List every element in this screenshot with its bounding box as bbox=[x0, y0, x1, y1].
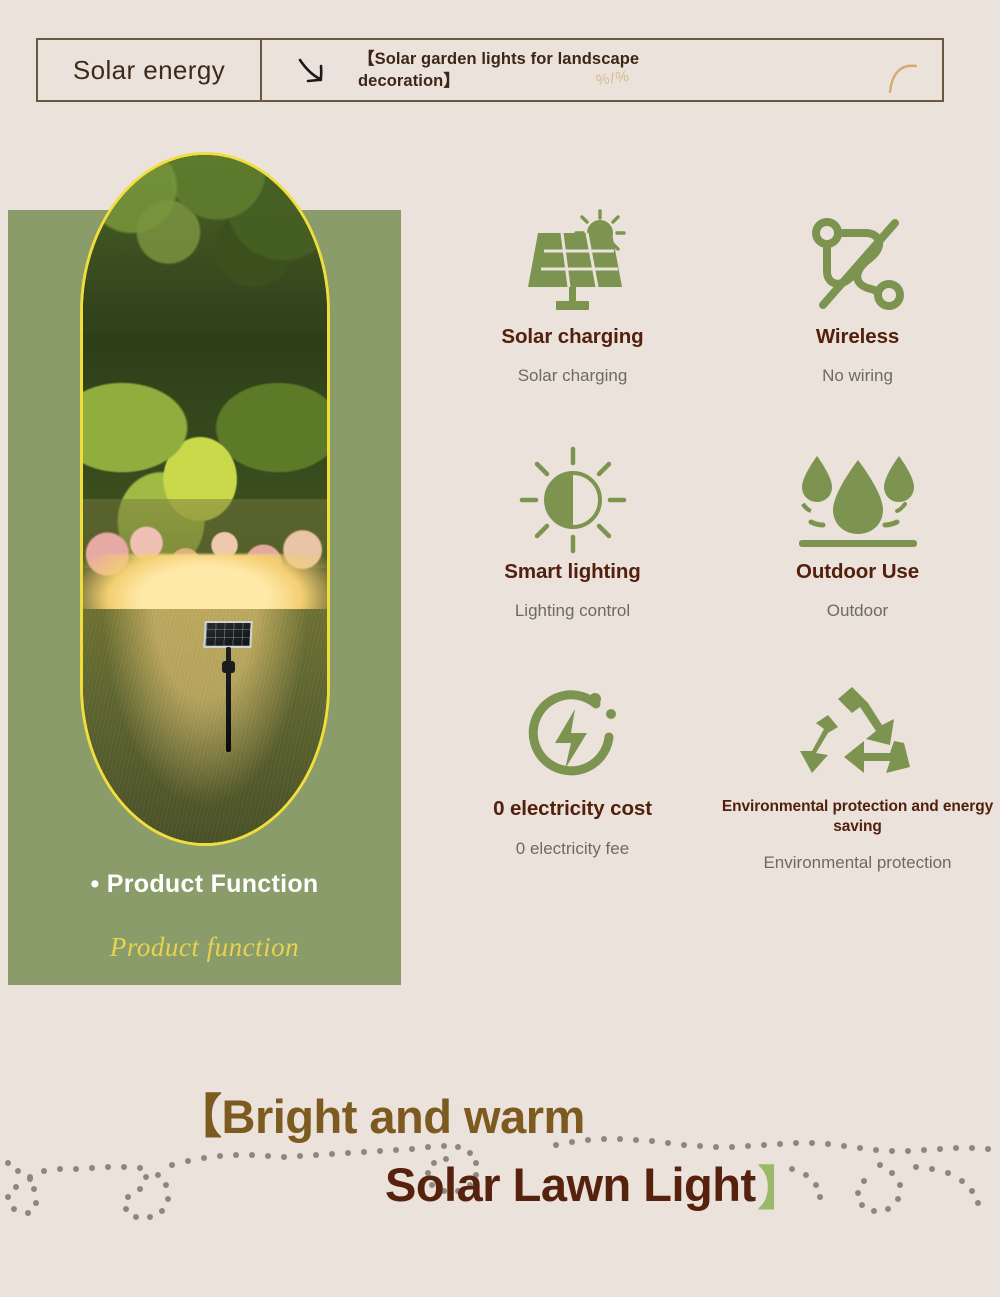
feature-wireless: Wireless No wiring bbox=[715, 205, 1000, 386]
feature-solar-charging: Solar charging Solar charging bbox=[430, 205, 715, 386]
feature-subtitle: No wiring bbox=[721, 366, 994, 386]
feature-subtitle: Solar charging bbox=[436, 366, 709, 386]
feature-title: Environmental protection and energy savi… bbox=[721, 797, 994, 836]
arrow-down-right-icon bbox=[262, 40, 358, 100]
feature-subtitle: Outdoor bbox=[721, 601, 994, 621]
header-subtitle-area: 【Solar garden lights for landscape decor… bbox=[358, 40, 942, 100]
feature-zero-electricity-cost: 0 electricity cost 0 electricity fee bbox=[430, 677, 715, 873]
product-infographic-page: Solar energy 【Solar garden lights for la… bbox=[0, 0, 1000, 1297]
feature-title: Smart lighting bbox=[436, 560, 709, 584]
energy-bolt-circle-icon bbox=[436, 677, 709, 797]
water-drops-icon bbox=[721, 440, 994, 560]
feature-environmental-protection: Environmental protection and energy savi… bbox=[715, 677, 1000, 873]
header-subtitle: 【Solar garden lights for landscape decor… bbox=[358, 48, 688, 93]
brightness-half-sun-icon bbox=[436, 440, 709, 560]
feature-row-2: Smart lighting Lighting control bbox=[430, 440, 1000, 621]
feature-grid: Solar charging Solar charging bbox=[430, 205, 1000, 873]
feature-title: Wireless bbox=[721, 325, 994, 349]
photo-solar-panel bbox=[203, 621, 252, 648]
panel-title: • Product Function bbox=[8, 870, 401, 899]
feature-subtitle: Lighting control bbox=[436, 601, 709, 621]
feature-row-1: Solar charging Solar charging bbox=[430, 205, 1000, 386]
garden-photo-scene bbox=[83, 155, 327, 843]
deco-swoosh-icon bbox=[886, 60, 926, 99]
feature-smart-lighting: Smart lighting Lighting control bbox=[430, 440, 715, 621]
headline-line-1: 【Bright and warm bbox=[175, 1078, 585, 1147]
feature-subtitle: 0 electricity fee bbox=[436, 839, 709, 859]
header-bar: Solar energy 【Solar garden lights for la… bbox=[36, 38, 944, 102]
feature-row-3: 0 electricity cost 0 electricity fee Env… bbox=[430, 677, 1000, 873]
feature-title: Outdoor Use bbox=[721, 560, 994, 584]
header-tab-solar-energy[interactable]: Solar energy bbox=[38, 40, 262, 100]
feature-outdoor-use: Outdoor Use Outdoor bbox=[715, 440, 1000, 621]
solar-panel-icon bbox=[436, 205, 709, 325]
recycling-arrows-icon bbox=[721, 677, 994, 797]
headline-line-2: Solar Lawn Light 】 bbox=[385, 1150, 804, 1219]
header-tab-label: Solar energy bbox=[73, 55, 225, 86]
feature-title: Solar charging bbox=[436, 325, 709, 349]
feature-title: 0 electricity cost bbox=[436, 797, 709, 821]
wireless-no-cable-icon bbox=[721, 205, 994, 325]
feature-subtitle: Environmental protection bbox=[721, 853, 994, 873]
photo-ground-stake bbox=[226, 647, 231, 752]
headline-closing-bracket: 】 bbox=[758, 1150, 805, 1219]
headline-line-2-text: Solar Lawn Light bbox=[385, 1157, 756, 1212]
panel-script-title: Product function bbox=[8, 932, 401, 963]
garden-photo bbox=[80, 152, 330, 846]
